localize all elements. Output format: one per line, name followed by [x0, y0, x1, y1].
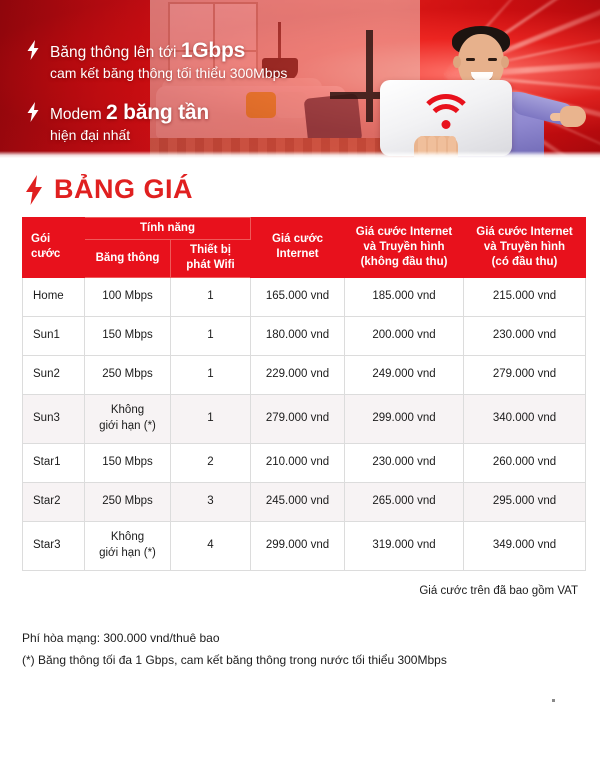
table-body: Home100 Mbps1165.000 vnd185.000 vnd215.0…	[23, 277, 586, 570]
col-header-tv-with-box-line3: (có đầu thu)	[466, 255, 583, 270]
banner-bullet-2-sub: hiện đại nhất	[50, 127, 209, 145]
cell-tv-with-box: 340.000 vnd	[464, 394, 586, 443]
cell-internet-price: 279.000 vnd	[251, 394, 345, 443]
col-header-bandwidth: Băng thông	[85, 240, 171, 277]
cell-tv-no-box: 249.000 vnd	[345, 355, 464, 394]
col-header-tv-with-box-line2: và Truyền hình	[466, 240, 583, 255]
person-with-laptop-photo	[400, 18, 590, 158]
cell-tv-no-box: 319.000 vnd	[345, 521, 464, 570]
banner-bullet-1: Băng thông lên tới 1Gbps cam kết băng th…	[26, 38, 287, 83]
cell-tv-with-box: 260.000 vnd	[464, 443, 586, 482]
cell-package: Star2	[23, 482, 85, 521]
cell-bandwidth: 250 Mbps	[85, 482, 171, 521]
cell-tv-no-box: 230.000 vnd	[345, 443, 464, 482]
cell-package: Home	[23, 277, 85, 316]
col-header-internet-price: Giá cước Internet	[251, 218, 345, 278]
table-header: Gói cước Tính năng Giá cước Internet Giá…	[23, 218, 586, 278]
cell-package: Star3	[23, 521, 85, 570]
pricing-table-wrapper: Gói cước Tính năng Giá cước Internet Giá…	[22, 217, 585, 571]
cell-internet-price: 165.000 vnd	[251, 277, 345, 316]
cell-package: Sun1	[23, 316, 85, 355]
table-row: Star1150 Mbps2210.000 vnd230.000 vnd260.…	[23, 443, 586, 482]
banner-bullet-1-highlight: 1Gbps	[181, 39, 245, 62]
cell-tv-no-box: 265.000 vnd	[345, 482, 464, 521]
banner-bullet-1-prefix: Băng thông lên tới	[50, 44, 181, 61]
cell-internet-price: 210.000 vnd	[251, 443, 345, 482]
cell-tv-with-box: 215.000 vnd	[464, 277, 586, 316]
cell-tv-with-box: 230.000 vnd	[464, 316, 586, 355]
cell-wifi-devices: 1	[171, 355, 251, 394]
cell-tv-no-box: 299.000 vnd	[345, 394, 464, 443]
cell-wifi-devices: 3	[171, 482, 251, 521]
col-header-internet-price-line1: Giá cước	[253, 232, 342, 247]
banner-bullet-1-main: Băng thông lên tới 1Gbps	[50, 38, 287, 65]
banner-bullet-2-main: Modem 2 băng tần	[50, 100, 209, 127]
table-row: Sun2250 Mbps1229.000 vnd249.000 vnd279.0…	[23, 355, 586, 394]
table-header-row-1: Gói cước Tính năng Giá cước Internet Giá…	[23, 218, 586, 240]
pointing-hand	[560, 106, 586, 127]
cell-bandwidth: Khônggiới hạn (*)	[85, 394, 171, 443]
cell-tv-no-box: 185.000 vnd	[345, 277, 464, 316]
table-row: Star2250 Mbps3245.000 vnd265.000 vnd295.…	[23, 482, 586, 521]
table-row: Home100 Mbps1165.000 vnd185.000 vnd215.0…	[23, 277, 586, 316]
cell-wifi-devices: 1	[171, 316, 251, 355]
banner-headline-list: Băng thông lên tới 1Gbps cam kết băng th…	[26, 38, 287, 145]
cell-internet-price: 180.000 vnd	[251, 316, 345, 355]
banner-bullet-2-prefix: Modem	[50, 106, 106, 123]
banner-bullet-2-highlight: 2 băng tần	[106, 101, 209, 124]
cell-tv-no-box: 200.000 vnd	[345, 316, 464, 355]
banner-bullet-1-sub: cam kết băng thông tối thiểu 300Mbps	[50, 65, 287, 83]
col-header-tv-no-box: Giá cước Internet và Truyền hình (không …	[345, 218, 464, 278]
bottom-notes: Phí hòa mạng: 300.000 vnd/thuê bao (*) B…	[22, 627, 600, 671]
col-header-wifi-device-line1: Thiết bị	[173, 243, 248, 258]
col-header-tv-with-box: Giá cước Internet và Truyền hình (có đầu…	[464, 218, 586, 278]
banner-bottom-fade	[0, 151, 600, 158]
cell-bandwidth: 100 Mbps	[85, 277, 171, 316]
cell-wifi-devices: 1	[171, 394, 251, 443]
table-row: Star3Khônggiới hạn (*)4299.000 vnd319.00…	[23, 521, 586, 570]
cell-bandwidth: Khônggiới hạn (*)	[85, 521, 171, 570]
banner-bullet-2: Modem 2 băng tần hiện đại nhất	[26, 100, 287, 145]
cell-package: Sun3	[23, 394, 85, 443]
cell-internet-price: 299.000 vnd	[251, 521, 345, 570]
col-header-wifi-device: Thiết bị phát Wifi	[171, 240, 251, 277]
cell-package: Star1	[23, 443, 85, 482]
cell-internet-price: 245.000 vnd	[251, 482, 345, 521]
bandwidth-footnote: (*) Băng thông tối đa 1 Gbps, cam kết bă…	[22, 649, 600, 671]
col-header-tv-no-box-line1: Giá cước Internet	[347, 225, 461, 240]
bolt-icon	[26, 102, 40, 122]
wifi-icon	[420, 92, 472, 134]
cell-package: Sun2	[23, 355, 85, 394]
cell-tv-with-box: 279.000 vnd	[464, 355, 586, 394]
col-header-wifi-device-line2: phát Wifi	[173, 258, 248, 273]
pricing-table: Gói cước Tính năng Giá cước Internet Giá…	[22, 217, 586, 571]
cell-bandwidth: 250 Mbps	[85, 355, 171, 394]
image-artifact-dot	[552, 699, 555, 702]
installation-fee-note: Phí hòa mạng: 300.000 vnd/thuê bao	[22, 627, 600, 649]
cell-bandwidth: 150 Mbps	[85, 443, 171, 482]
col-header-features: Tính năng	[85, 218, 251, 240]
cell-internet-price: 229.000 vnd	[251, 355, 345, 394]
vat-note: Giá cước trên đã bao gồm VAT	[0, 585, 578, 597]
cell-bandwidth: 150 Mbps	[85, 316, 171, 355]
cell-wifi-devices: 1	[171, 277, 251, 316]
cell-tv-with-box: 349.000 vnd	[464, 521, 586, 570]
cell-wifi-devices: 4	[171, 521, 251, 570]
table-row: Sun3Khônggiới hạn (*)1279.000 vnd299.000…	[23, 394, 586, 443]
col-header-tv-no-box-line2: và Truyền hình	[347, 240, 461, 255]
promo-banner: Băng thông lên tới 1Gbps cam kết băng th…	[0, 0, 600, 158]
cell-wifi-devices: 2	[171, 443, 251, 482]
col-header-package: Gói cước	[23, 218, 85, 278]
price-table-heading: BẢNG GIÁ	[24, 174, 600, 205]
table-row: Sun1150 Mbps1180.000 vnd200.000 vnd230.0…	[23, 316, 586, 355]
col-header-internet-price-line2: Internet	[253, 247, 342, 262]
col-header-tv-no-box-line3: (không đầu thu)	[347, 255, 461, 270]
bolt-icon	[26, 40, 40, 60]
page-title: BẢNG GIÁ	[54, 174, 193, 205]
cell-tv-with-box: 295.000 vnd	[464, 482, 586, 521]
bolt-icon	[24, 175, 44, 205]
col-header-tv-with-box-line1: Giá cước Internet	[466, 225, 583, 240]
